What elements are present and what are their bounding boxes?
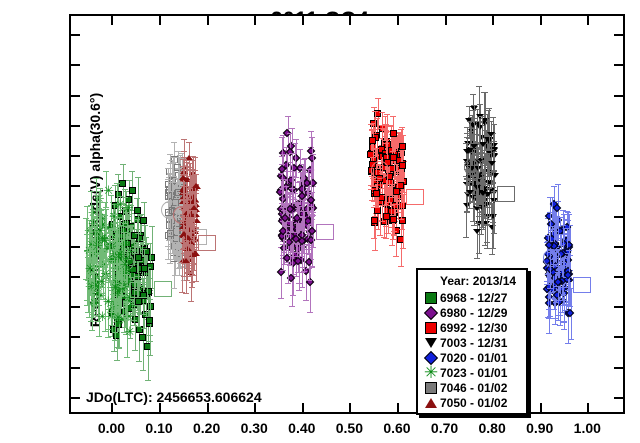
error-bar-cap	[141, 249, 147, 250]
error-bar-cap	[140, 370, 146, 371]
data-point-square	[146, 317, 153, 324]
error-bar-cap	[296, 290, 302, 291]
error-bar-cap	[306, 280, 312, 281]
legend-item-label: 6968 - 12/27	[440, 291, 507, 305]
error-bar-cap	[141, 240, 147, 241]
error-bar-cap	[399, 181, 405, 182]
error-bar-cap	[94, 195, 100, 196]
legend-item-7050[interactable]: 7050 - 01/02	[422, 395, 518, 410]
error-bar-cap	[124, 302, 130, 303]
error-bar-cap	[566, 214, 572, 215]
error-bar-cap	[129, 171, 135, 172]
error-bar-cap	[102, 215, 108, 216]
error-bar-cap	[370, 157, 376, 158]
error-bar-cap	[484, 248, 490, 249]
error-bar-cap	[108, 195, 114, 196]
data-point-triangle-down	[479, 142, 487, 147]
error-bar-cap	[193, 281, 199, 282]
error-bar-cap	[118, 308, 124, 309]
legend-glyph	[424, 305, 438, 319]
error-bar-cap	[141, 202, 147, 203]
error-bar-cap	[109, 312, 115, 313]
error-bar-cap	[480, 177, 486, 178]
error-bar-cap	[390, 151, 396, 152]
error-bar-cap	[307, 312, 313, 313]
error-bar-cap	[294, 223, 300, 224]
error-bar-cap	[470, 221, 476, 222]
error-bar-cap	[105, 337, 111, 338]
error-bar-cap	[93, 178, 99, 179]
error-bar-cap	[290, 171, 296, 172]
error-bar-cap	[84, 234, 90, 235]
error-bar-cap	[566, 301, 572, 302]
error-bar-cap	[476, 86, 482, 87]
error-bar-cap	[372, 111, 378, 112]
error-bar-cap	[90, 317, 96, 318]
error-bar-cap	[305, 169, 311, 170]
legend-item-label: 7023 - 01/01	[440, 366, 507, 380]
error-bar-cap	[173, 224, 179, 225]
data-point-asterisk: ✳	[102, 185, 115, 198]
error-bar-cap	[192, 157, 198, 158]
data-point-square	[390, 216, 397, 223]
error-bar-cap	[308, 131, 314, 132]
legend-item-label: 6980 - 12/29	[440, 306, 507, 320]
highlight-box	[406, 189, 424, 205]
error-bar-cap	[147, 341, 153, 342]
error-bar-cap	[122, 223, 128, 224]
error-bar-cap	[374, 207, 380, 208]
error-bar-cap	[167, 174, 173, 175]
error-bar-cap	[136, 361, 142, 362]
error-bar-cap	[309, 267, 315, 268]
data-point-asterisk: ✳	[114, 249, 127, 262]
error-bar-cap	[473, 203, 479, 204]
error-bar-cap	[283, 186, 289, 187]
error-bar-cap	[374, 180, 380, 181]
error-bar-cap	[390, 116, 396, 117]
error-bar-cap	[140, 314, 146, 315]
error-bar-cap	[299, 267, 305, 268]
error-bar-cap	[551, 229, 557, 230]
error-bar-cap	[175, 151, 181, 152]
error-bar-cap	[391, 235, 397, 236]
highlight-box	[316, 224, 334, 240]
error-bar-cap	[561, 329, 567, 330]
error-bar-cap	[305, 253, 311, 254]
error-bar-cap	[379, 112, 385, 113]
error-bar-cap	[479, 116, 485, 117]
error-bar-cap	[384, 195, 390, 196]
highlight-box	[154, 281, 172, 297]
error-bar-cap	[191, 191, 197, 192]
error-bar-cap	[188, 301, 194, 302]
error-bar-cap	[370, 123, 376, 124]
error-bar-cap	[491, 233, 497, 234]
legend-item-7023[interactable]: ✳7023 - 01/01	[422, 365, 518, 380]
error-bar-cap	[471, 118, 477, 119]
data-point-square	[369, 137, 376, 144]
highlight-ring	[543, 249, 561, 267]
data-point-square	[383, 213, 390, 220]
error-bar-cap	[132, 350, 138, 351]
highlight-box	[198, 235, 216, 251]
error-bar-cap	[89, 205, 95, 206]
legend-glyph: ✳	[424, 368, 438, 378]
error-bar-cap	[183, 293, 189, 294]
error-bar-cap	[474, 223, 480, 224]
highlight-box	[497, 186, 515, 202]
error-bar-cap	[545, 317, 551, 318]
error-bar-cap	[400, 248, 406, 249]
error-bar-cap	[167, 263, 173, 264]
data-point-square	[119, 180, 126, 187]
legend-item-label: 7020 - 01/01	[440, 351, 507, 365]
error-bar-cap	[289, 188, 295, 189]
error-bar-cap	[180, 199, 186, 200]
legend-item-label: 7050 - 01/02	[440, 396, 507, 410]
error-bar-cap	[484, 165, 490, 166]
error-bar-cap	[122, 189, 128, 190]
error-bar-cap	[310, 247, 316, 248]
data-point-triangle-down	[487, 132, 495, 137]
error-bar-cap	[97, 188, 103, 189]
legend-item-6968[interactable]: 6968 - 12/27	[422, 290, 518, 305]
error-bar-cap	[560, 225, 566, 226]
error-bar-cap	[375, 229, 381, 230]
error-bar-cap	[383, 238, 389, 239]
error-bar-cap	[488, 149, 494, 150]
error-bar-cap	[91, 311, 97, 312]
error-bar-cap	[89, 330, 95, 331]
error-bar-cap	[479, 227, 485, 228]
error-bar-cap	[389, 245, 395, 246]
data-point-square	[374, 207, 381, 214]
error-bar-cap	[555, 184, 561, 185]
error-bar-cap	[287, 133, 293, 134]
error-bar-cap	[399, 127, 405, 128]
error-bar-cap	[114, 227, 120, 228]
error-bar-cap	[489, 254, 495, 255]
error-bar-cap	[551, 186, 557, 187]
legend-marker-icon	[422, 381, 440, 395]
error-bar-cap	[281, 252, 287, 253]
error-bar-cap	[467, 121, 473, 122]
error-bar-cap	[167, 249, 173, 250]
error-bar-cap	[310, 154, 316, 155]
highlight-ring	[281, 196, 299, 214]
error-bar-cap	[297, 149, 303, 150]
error-bar-cap	[287, 265, 293, 266]
error-bar-cap	[463, 237, 469, 238]
error-bar-cap	[287, 221, 293, 222]
error-bar-cap	[299, 216, 305, 217]
error-bar-cap	[285, 116, 291, 117]
error-bar-cap	[384, 131, 390, 132]
error-bar-cap	[147, 355, 153, 356]
error-bar-cap	[116, 222, 122, 223]
error-bar-cap	[547, 288, 553, 289]
error-bar-cap	[466, 179, 472, 180]
legend-item-label: 6992 - 12/30	[440, 321, 507, 335]
error-bar-cap	[375, 98, 381, 99]
data-point-square	[393, 188, 400, 195]
error-bar-cap	[189, 287, 195, 288]
error-bar-cap	[484, 225, 490, 226]
legend-marker-icon	[422, 396, 440, 410]
error-bar-cap	[191, 226, 197, 227]
error-bar-cap	[555, 315, 561, 316]
legend-glyph	[425, 338, 437, 348]
error-bar-cap	[114, 183, 120, 184]
error-bar-cap	[482, 92, 488, 93]
error-bar-cap	[284, 154, 290, 155]
error-bar-cap	[186, 142, 192, 143]
data-point-square	[129, 187, 136, 194]
error-bar-cap	[292, 143, 298, 144]
error-bar-cap	[474, 197, 480, 198]
legend-glyph	[425, 398, 437, 408]
data-point-square	[373, 190, 380, 197]
error-bar-cap	[135, 177, 141, 178]
error-bar-cap	[84, 300, 90, 301]
error-bar-cap	[547, 316, 553, 317]
error-bar-cap	[165, 179, 171, 180]
error-bar-cap	[565, 343, 571, 344]
error-bar-cap	[379, 221, 385, 222]
error-bar-cap	[102, 202, 108, 203]
error-bar-cap	[289, 128, 295, 129]
error-bar-cap	[568, 339, 574, 340]
error-bar-cap	[301, 211, 307, 212]
error-bar-cap	[114, 360, 120, 361]
error-bar-cap	[280, 270, 286, 271]
data-point-triangle-down	[473, 229, 481, 234]
error-bar-cap	[147, 299, 153, 300]
legend-glyph	[425, 292, 437, 304]
error-bar-cap	[301, 271, 307, 272]
error-bar-cap	[300, 164, 306, 165]
legend-glyph	[425, 322, 437, 334]
data-point-square	[167, 230, 174, 237]
error-bar-cap	[564, 228, 570, 229]
error-bar-cap	[114, 279, 120, 280]
error-bar-cap	[393, 256, 399, 257]
error-bar-cap	[112, 332, 118, 333]
error-bar-cap	[102, 331, 108, 332]
error-bar-cap	[372, 250, 378, 251]
data-point-triangle-down	[466, 190, 474, 195]
error-bar-cap	[466, 208, 472, 209]
legend-rows: 6968 - 12/276980 - 12/296992 - 12/307003…	[422, 290, 518, 410]
error-bar-cap	[135, 233, 141, 234]
error-bar-cap	[124, 357, 130, 358]
error-bar-cap	[488, 184, 494, 185]
error-bar-cap	[370, 186, 376, 187]
error-bar-cap	[187, 188, 193, 189]
legend-item-7003[interactable]: 7003 - 12/31	[422, 335, 518, 350]
error-bar-cap	[566, 250, 572, 251]
data-point-square	[399, 162, 406, 169]
error-bar-cap	[289, 176, 295, 177]
error-bar-cap	[170, 157, 176, 158]
error-bar-cap	[183, 230, 189, 231]
legend-item-6992[interactable]: 6992 - 12/30	[422, 320, 518, 335]
error-bar-cap	[309, 137, 315, 138]
legend-marker-icon	[422, 291, 440, 305]
error-bar-cap	[301, 159, 307, 160]
legend-item-7046[interactable]: 7046 - 01/02	[422, 380, 518, 395]
error-bar-cap	[371, 107, 377, 108]
data-point-asterisk: ✳	[122, 202, 135, 215]
data-point-triangle-down	[479, 191, 487, 196]
error-bar-cap	[112, 340, 118, 341]
error-bar-cap	[488, 121, 494, 122]
error-bar-cap	[171, 142, 177, 143]
error-bar-cap	[399, 150, 405, 151]
error-bar-cap	[564, 211, 570, 212]
data-layer: ✳✳✳✳✳✳✳✳✳✳✳✳✳✳✳✳✳✳✳✳✳✳✳✳✳✳✳✳✳✳✳✳✳✳✳✳✳✳✳✳…	[71, 16, 623, 412]
legend-item-label: 7003 - 12/31	[440, 336, 507, 350]
error-bar-cap	[475, 147, 481, 148]
legend-marker-icon	[422, 336, 440, 350]
error-bar-cap	[175, 244, 181, 245]
error-bar-cap	[126, 180, 132, 181]
error-bar-cap	[549, 197, 555, 198]
data-point-square	[390, 154, 397, 161]
data-point-asterisk: ✳	[94, 225, 107, 238]
error-bar-cap	[474, 258, 480, 259]
error-bar-cap	[119, 240, 125, 241]
error-bar-cap	[88, 191, 94, 192]
data-point-triangle-down	[466, 148, 474, 153]
highlight-box	[573, 277, 591, 293]
plot-area: Reduced Magnitude(V) alpha(30.6°) 19.251…	[69, 14, 625, 414]
error-bar-cap	[310, 215, 316, 216]
error-bar-cap	[119, 286, 125, 287]
error-bar-cap	[285, 283, 291, 284]
error-bar-cap	[557, 325, 563, 326]
error-bar-cap	[112, 214, 118, 215]
error-bar-cap	[555, 320, 561, 321]
error-bar-cap	[389, 197, 395, 198]
legend-marker-icon	[422, 306, 440, 320]
error-bar-cap	[369, 200, 375, 201]
error-bar-cap	[149, 226, 155, 227]
error-bar-cap	[470, 110, 476, 111]
legend-marker-icon	[422, 321, 440, 335]
error-bar-cap	[490, 248, 496, 249]
error-bar-cap	[293, 139, 299, 140]
error-bar-cap	[103, 171, 109, 172]
error-bar-cap	[147, 243, 153, 244]
highlight-box	[130, 282, 148, 298]
error-bar-cap	[547, 280, 553, 281]
error-bar-cap	[116, 348, 122, 349]
error-bar-cap	[279, 137, 285, 138]
data-point-diamond	[307, 154, 315, 162]
legend-title: Year: 2013/14	[422, 273, 518, 290]
error-bar-cap	[115, 174, 121, 175]
error-bar-cap	[88, 321, 94, 322]
error-bar-cap	[278, 298, 284, 299]
error-bar-cap	[383, 143, 389, 144]
data-point-asterisk: ✳	[109, 282, 122, 295]
legend-item-label: 7046 - 01/02	[440, 381, 507, 395]
error-bar-cap	[478, 234, 484, 235]
data-point-square	[390, 130, 397, 137]
error-bar-cap	[180, 159, 186, 160]
data-point-asterisk: ✳	[112, 312, 125, 325]
legend-item-6980[interactable]: 6980 - 12/29	[422, 305, 518, 320]
error-bar-cap	[96, 336, 102, 337]
error-bar-cap	[555, 234, 561, 235]
legend: Year: 2013/14 6968 - 12/276980 - 12/2969…	[416, 268, 528, 415]
error-bar-cap	[190, 275, 196, 276]
error-bar-cap	[289, 306, 295, 307]
error-bar-cap	[470, 94, 476, 95]
error-bar-cap	[120, 164, 126, 165]
error-bar-cap	[142, 225, 148, 226]
error-bar-cap	[171, 288, 177, 289]
x-axis-tick-label: 1.00	[552, 420, 622, 436]
error-bar-cap	[140, 278, 146, 279]
jdo-annotation: JDo(LTC): 2456653.606624	[86, 389, 262, 405]
error-bar-cap	[303, 300, 309, 301]
data-point-square	[140, 217, 147, 224]
error-bar-cap	[96, 305, 102, 306]
error-bar-cap	[546, 333, 552, 334]
data-point-asterisk: ✳	[102, 296, 115, 309]
error-bar-cap	[475, 206, 481, 207]
error-bar-cap	[167, 154, 173, 155]
legend-marker-icon: ✳	[422, 366, 440, 380]
data-point-square	[134, 207, 141, 214]
error-bar-cap	[287, 192, 293, 193]
data-point-triangle-up	[182, 258, 190, 263]
error-bar-cap	[294, 256, 300, 257]
error-bar-cap	[398, 219, 404, 220]
error-bar-cap	[464, 211, 470, 212]
error-bar-cap	[490, 117, 496, 118]
data-point-triangle-up	[179, 175, 187, 180]
data-point-square	[141, 265, 148, 272]
error-bar-cap	[181, 139, 187, 140]
error-bar-cap	[480, 211, 486, 212]
error-bar-cap	[165, 168, 171, 169]
chart-figure: 2011 CQ4 Period: 128 ± 3 h Reduced Magni…	[0, 0, 640, 443]
data-point-asterisk: ✳	[123, 326, 136, 339]
error-bar-cap	[145, 380, 151, 381]
error-bar-cap	[558, 238, 564, 239]
error-bar-cap	[547, 212, 553, 213]
legend-glyph	[425, 382, 437, 394]
error-bar-cap	[486, 108, 492, 109]
error-bar-cap	[484, 114, 490, 115]
error-bar-cap	[299, 272, 305, 273]
error-bar-cap	[121, 232, 127, 233]
error-bar-cap	[377, 235, 383, 236]
error-bar-cap	[398, 266, 404, 267]
error-bar-cap	[308, 176, 314, 177]
error-bar-cap	[390, 239, 396, 240]
error-bar-cap	[283, 250, 289, 251]
data-point-square	[399, 143, 406, 150]
error-bar-cap	[561, 322, 567, 323]
error-bar-cap	[379, 128, 385, 129]
error-bar-cap	[394, 212, 400, 213]
data-point-triangle-up	[190, 205, 198, 210]
